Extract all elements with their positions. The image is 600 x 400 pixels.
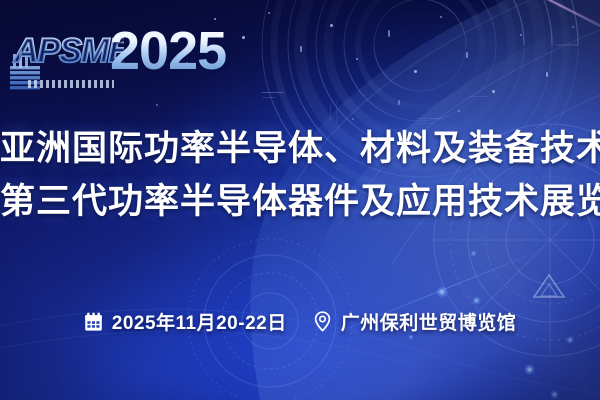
event-info-bar: 2025年11月20-22日 广州保利世贸博览馆 — [0, 308, 600, 335]
event-date-item: 2025年11月20-22日 — [84, 308, 287, 335]
triangle-mark-decoration — [532, 273, 566, 304]
event-banner: APSME APSME 2025 2025 亚洲国际功率半导体、材料及装备技术展… — [0, 0, 600, 400]
calendar-icon — [84, 311, 104, 332]
event-venue-text: 广州保利世贸博览馆 — [341, 308, 517, 335]
logo-subtitle-bar — [28, 80, 114, 88]
year-label: 2025 — [110, 24, 226, 78]
headline-block: 亚洲国际功率半导体、材料及装备技术展览会 第三代功率半导体器件及应用技术展览会 — [0, 128, 600, 223]
event-venue-item: 广州保利世贸博览馆 — [313, 308, 517, 335]
headline-line-1: 亚洲国际功率半导体、材料及装备技术展览会 — [0, 128, 600, 169]
event-date-text: 2025年11月20-22日 — [112, 308, 287, 335]
location-pin-icon — [313, 311, 333, 332]
svg-text:APSME: APSME — [13, 32, 124, 70]
headline-line-2: 第三代功率半导体器件及应用技术展览会 — [0, 181, 600, 222]
